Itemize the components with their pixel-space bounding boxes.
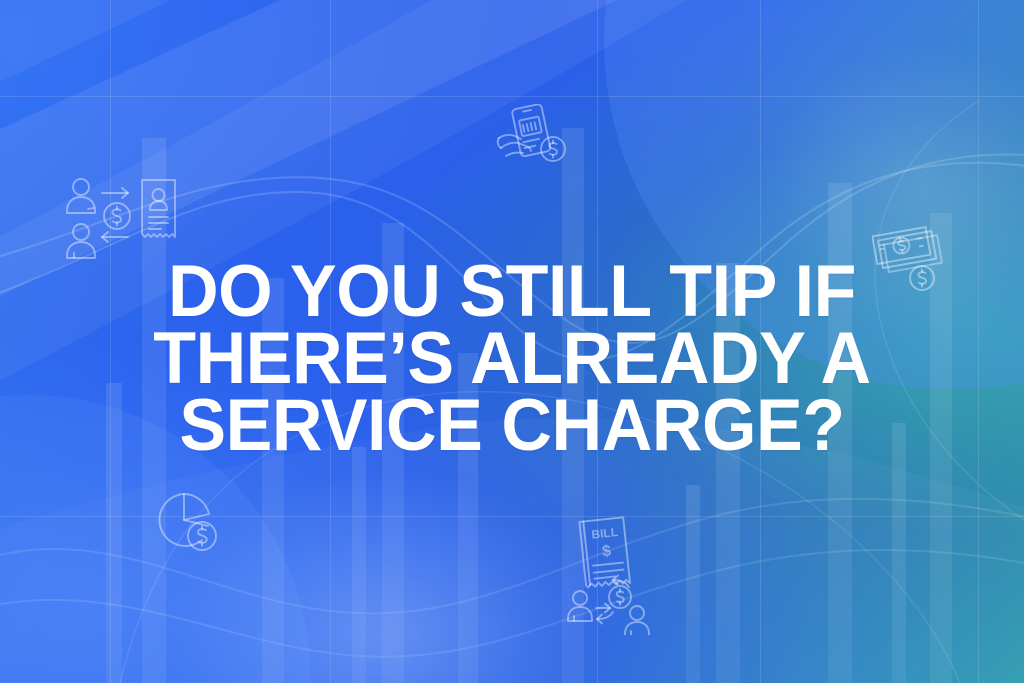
svg-text:$: $	[601, 543, 612, 561]
headline-line-1: DO YOU STILL TIP IF	[20, 258, 1003, 325]
mobile-bill-payment-icon	[495, 104, 571, 172]
headline-line-2: THERE’S ALREADY A	[20, 325, 1003, 392]
title-card: BILL $ DO YOU STILL TIP	[0, 0, 1024, 683]
svg-text:BILL: BILL	[591, 525, 619, 542]
page-title: DO YOU STILL TIP IF THERE’S ALREADY A SE…	[20, 258, 1003, 459]
headline-line-3: SERVICE CHARGE?	[20, 392, 1003, 459]
decorative-glow-bottom-left	[170, 470, 600, 683]
pie-chart-dollar-icon	[152, 488, 228, 558]
split-bill-icon: BILL $	[565, 515, 663, 635]
